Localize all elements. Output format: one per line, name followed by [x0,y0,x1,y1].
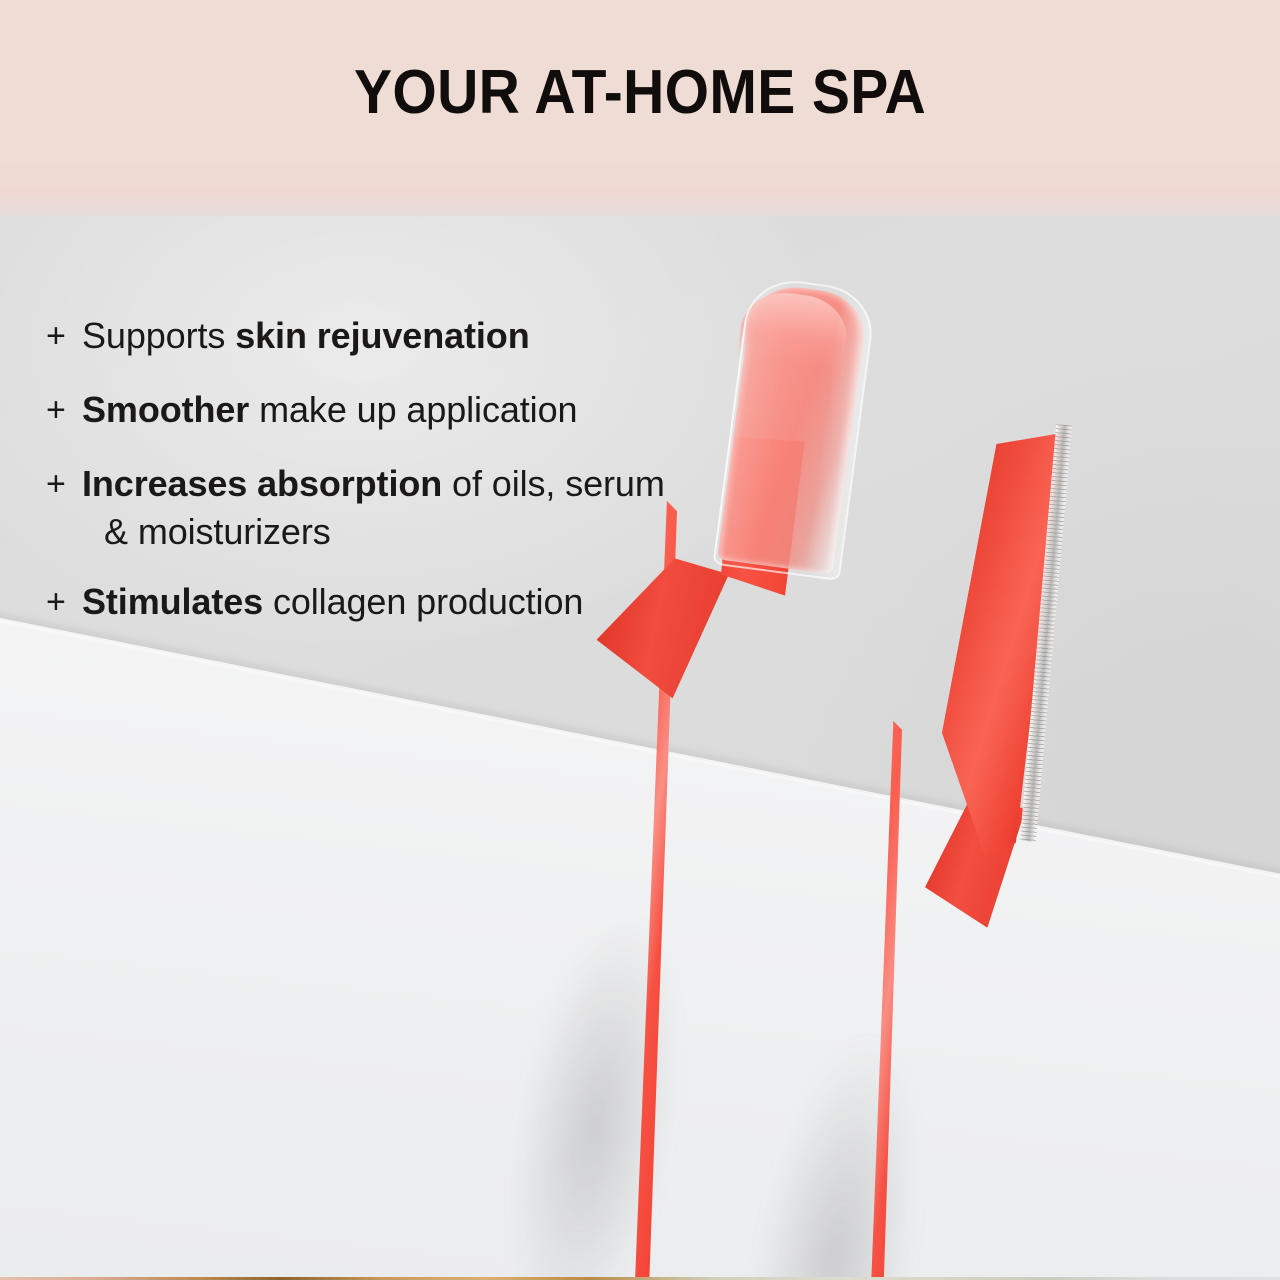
page-title: YOUR AT-HOME SPA [51,62,1229,124]
benefit-3-wrap: & moisturizers [82,508,746,556]
razor-handle-highlight-right [830,721,902,1277]
benefits-list: + Supports skin rejuvenation + Smoother … [46,312,746,652]
benefit-text-3: Increases absorption of oils, serum& moi… [82,460,746,556]
benefit-1-bold: skin rejuvenation [235,315,529,356]
facial-razor-right [770,366,1130,1277]
plus-icon: + [46,386,82,434]
benefit-3-bold: Increases absorption [82,463,442,504]
benefit-item-4: + Stimulates collagen production [46,578,746,626]
header-band: YOUR AT-HOME SPA [0,0,1280,218]
benefit-item-2: + Smoother make up application [46,386,746,434]
benefit-text-4: Stimulates collagen production [82,578,746,626]
benefit-4-bold: Stimulates [82,581,263,622]
benefit-2-plain: make up application [249,389,577,430]
plus-icon: + [46,578,82,626]
benefit-item-1: + Supports skin rejuvenation [46,312,746,360]
benefit-4-plain: collagen production [263,581,583,622]
plus-icon: + [46,312,82,360]
benefit-item-3: + Increases absorption of oils, serum& m… [46,460,746,556]
plus-icon: + [46,460,82,508]
benefit-text-2: Smoother make up application [82,386,746,434]
product-photo: + Supports skin rejuvenation + Smoother … [0,216,1280,1277]
benefit-1-plain: Supports [82,315,235,356]
benefit-3-plain: of oils, serum [442,463,665,504]
product-feature-graphic: YOUR AT-HOME SPA [0,0,1280,1280]
benefit-text-1: Supports skin rejuvenation [82,312,746,360]
benefit-2-bold: Smoother [82,389,249,430]
